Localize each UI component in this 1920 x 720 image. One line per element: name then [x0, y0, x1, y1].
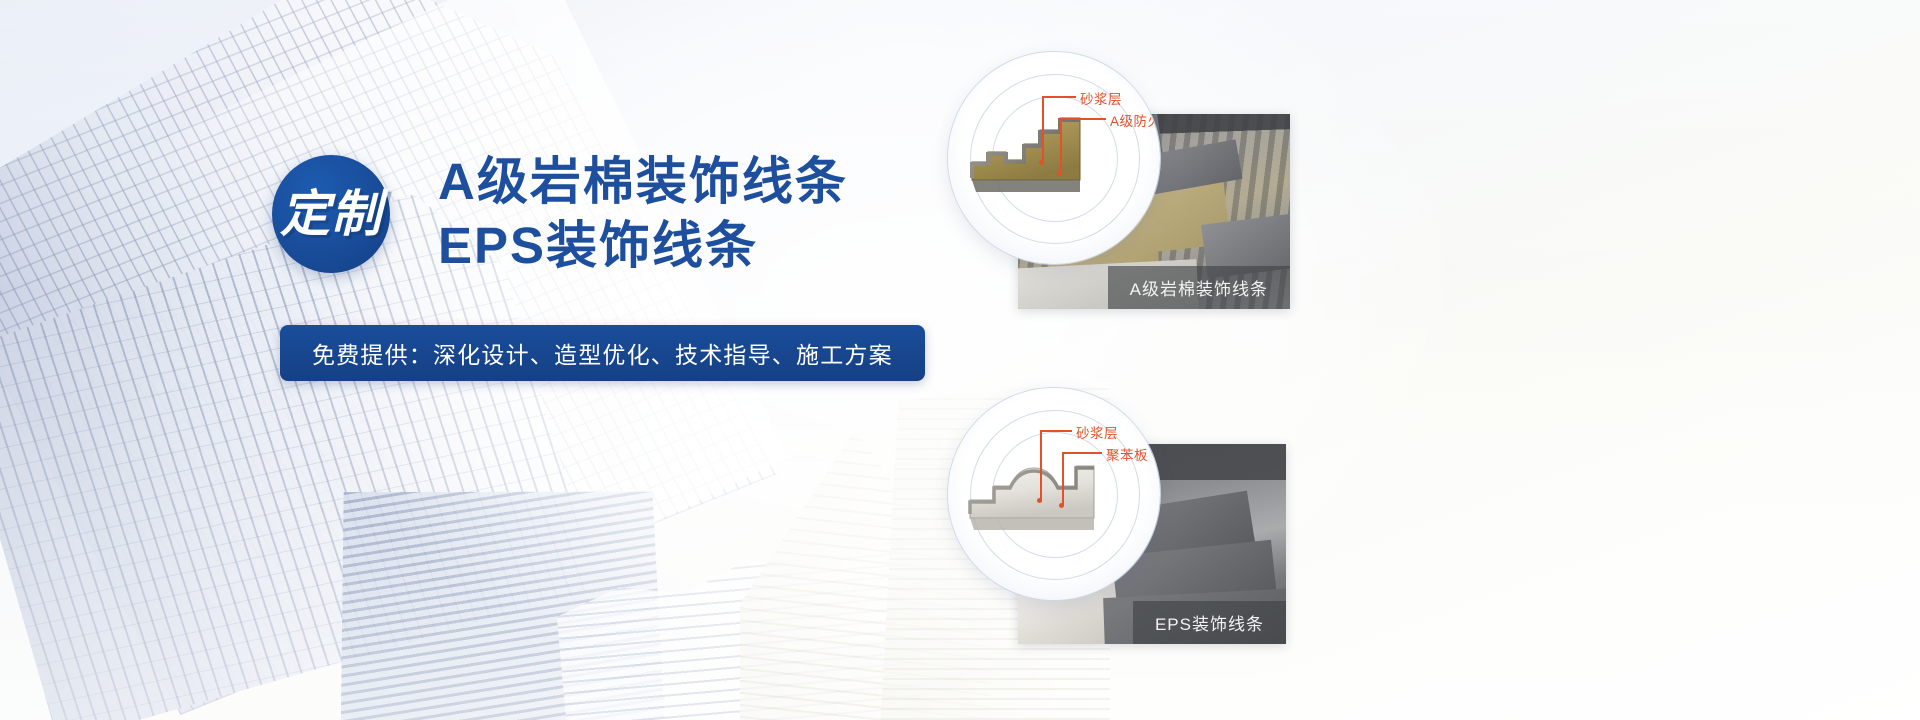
custom-badge: 定制: [272, 155, 390, 273]
custom-badge-label: 定制: [280, 189, 382, 239]
cutaway-diagram-eps: 砂浆层 聚苯板: [948, 388, 1160, 600]
diagram-label-mortar: 砂浆层: [1080, 88, 1122, 108]
product-caption-eps: EPS装饰线条: [1133, 601, 1286, 644]
product-card-rockwool[interactable]: A级岩棉装饰线条: [1012, 42, 1892, 362]
rockwool-profile-shape: [948, 52, 1160, 264]
diagram-label-rockwool: A级防火岩棉层: [1110, 110, 1160, 130]
diagram-label-mortar: 砂浆层: [1076, 422, 1118, 442]
services-banner-text: 免费提供：深化设计、造型优化、技术指导、施工方案: [312, 336, 893, 370]
leader-line-2-drop: [1060, 118, 1062, 174]
cutaway-diagram-rockwool: 砂浆层 A级防火岩棉层: [948, 52, 1160, 264]
leader-dot-2: [1057, 171, 1062, 176]
leader-dot-1: [1037, 498, 1042, 503]
leader-line-2-drop: [1062, 452, 1064, 506]
headline-line-2: EPS装饰线条: [438, 214, 848, 278]
leader-line-1: [1040, 430, 1072, 432]
photo-detail: [1018, 592, 1105, 644]
leader-dot-1: [1039, 160, 1044, 165]
leader-line-2: [1060, 118, 1106, 120]
promo-banner: 定制 A级岩棉装饰线条 EPS装饰线条 免费提供：深化设计、造型优化、技术指导、…: [0, 0, 1920, 720]
leader-line-2: [1062, 452, 1102, 454]
product-caption-rockwool: A级岩棉装饰线条: [1108, 266, 1290, 309]
eps-profile-shape: [948, 388, 1160, 600]
headline-line-1: A级岩棉装饰线条: [438, 150, 848, 214]
leader-line-1: [1042, 96, 1076, 98]
leader-line-1-drop: [1042, 96, 1044, 164]
leader-line-1-drop: [1040, 430, 1042, 502]
leader-dot-2: [1059, 503, 1064, 508]
services-banner-bar[interactable]: 免费提供：深化设计、造型优化、技术指导、施工方案: [280, 325, 925, 381]
product-card-eps[interactable]: EPS装饰线条: [1012, 378, 1892, 698]
headline-titles: A级岩棉装饰线条 EPS装饰线条: [438, 150, 848, 279]
diagram-label-eps-board: 聚苯板: [1106, 444, 1148, 464]
